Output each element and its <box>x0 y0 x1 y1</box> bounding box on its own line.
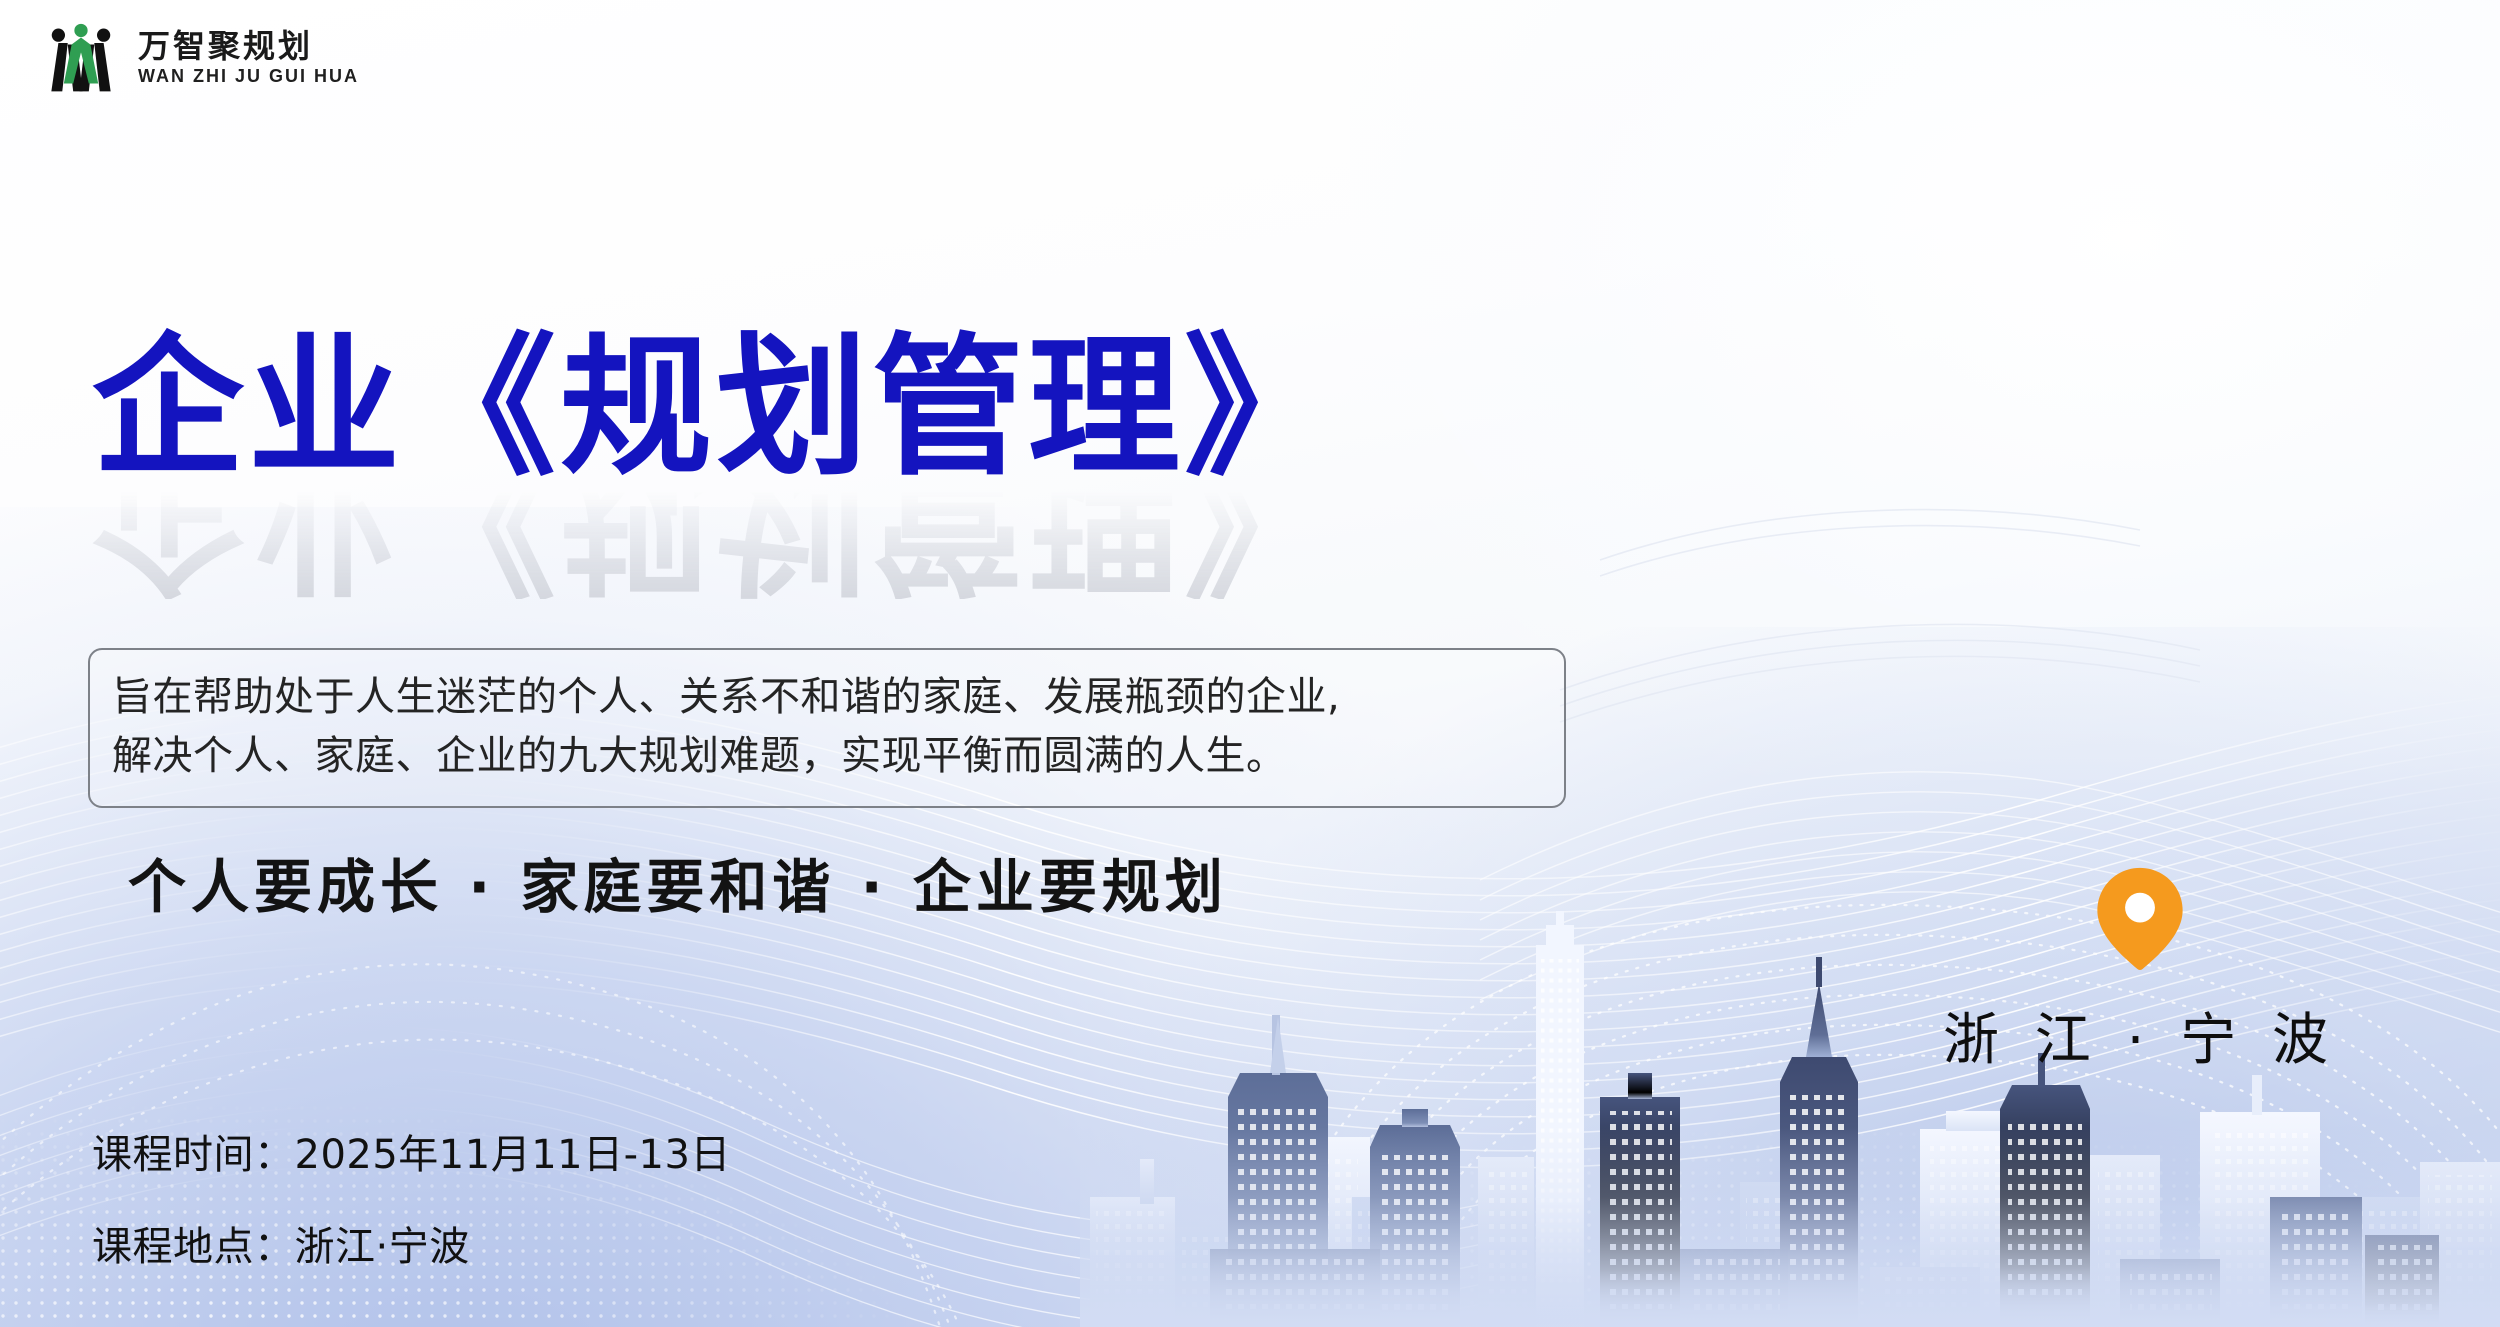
map-pin-icon <box>2094 865 2186 973</box>
poster-canvas: 万智聚规划 WAN ZHI JU GUI HUA 企业《规划管理》 企业《规划管… <box>0 0 2500 1327</box>
course-info: 课程时间：2025年11月11日-13日 课程地点：浙江·宁波 <box>92 1122 731 1272</box>
location-label: 浙 江 · 宁 波 <box>1943 995 2337 1076</box>
page-title-reflection: 企业《规划管理》 <box>92 489 1340 599</box>
page-title: 企业《规划管理》 <box>92 330 1340 485</box>
brand-logo[interactable]: 万智聚规划 WAN ZHI JU GUI HUA <box>42 18 359 96</box>
skyline-fade-overlay <box>1080 1127 2500 1327</box>
brand-name-cn: 万智聚规划 <box>138 30 359 62</box>
course-time: 课程时间：2025年11月11日-13日 <box>92 1122 731 1180</box>
location-badge: 浙 江 · 宁 波 <box>1950 865 2330 1076</box>
description-line-2: 解决个人、家庭、企业的九大规划难题，实现平衡而圆满的人生。 <box>112 727 1542 786</box>
brand-logo-text: 万智聚规划 WAN ZHI JU GUI HUA <box>138 30 359 85</box>
hero-title-block: 企业《规划管理》 企业《规划管理》 <box>92 330 1340 599</box>
slogan-text: 个人要成长 · 家庭要和谐 · 企业要规划 <box>128 840 1228 924</box>
three-people-mountain-logo-icon <box>42 18 120 96</box>
description-box: 旨在帮助处于人生迷茫的个人、关系不和谐的家庭、发展瓶颈的企业, 解决个人、家庭、… <box>88 648 1566 808</box>
course-place: 课程地点：浙江·宁波 <box>92 1214 731 1272</box>
description-line-1: 旨在帮助处于人生迷茫的个人、关系不和谐的家庭、发展瓶颈的企业, <box>112 668 1542 727</box>
brand-name-en: WAN ZHI JU GUI HUA <box>138 67 359 85</box>
